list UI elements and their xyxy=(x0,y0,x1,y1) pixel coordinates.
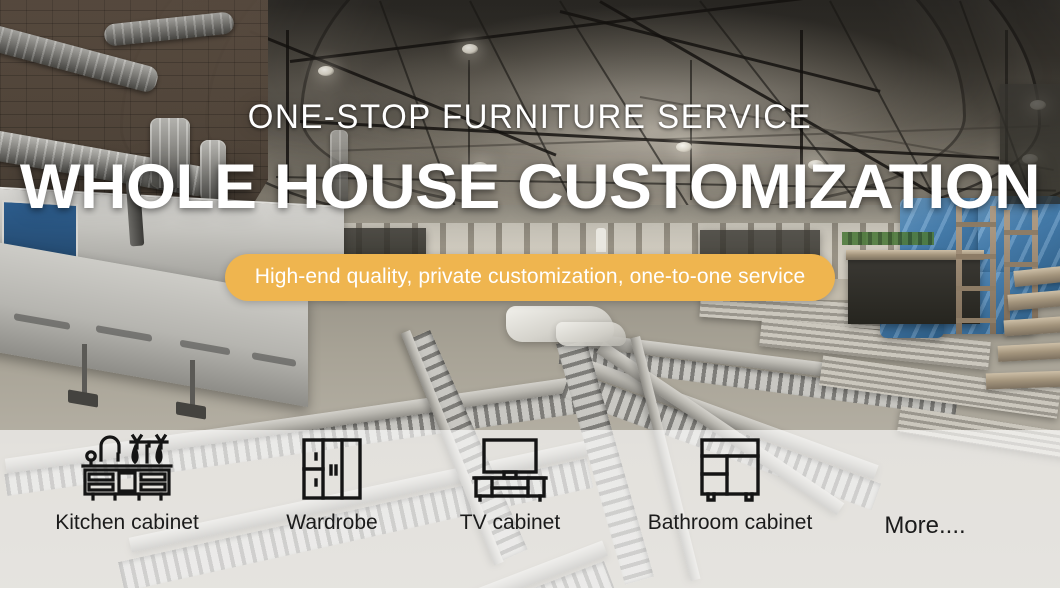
kitchen-cabinet-icon xyxy=(22,430,232,502)
more-link[interactable]: More.... xyxy=(835,512,1015,540)
timber-stack xyxy=(998,342,1060,362)
sub-headline: ONE-STOP FURNITURE SERVICE xyxy=(16,100,1044,134)
tagline-container: High-end quality, private customization,… xyxy=(0,254,1060,301)
tagline-pill: High-end quality, private customization,… xyxy=(225,254,836,301)
ceiling-lamp xyxy=(676,142,692,152)
machine-leg xyxy=(82,344,87,394)
wrapped-bundle xyxy=(556,322,626,346)
category-label: TV cabinet xyxy=(405,511,615,535)
ceiling-lamp xyxy=(318,66,334,76)
ladder-rung xyxy=(956,318,996,323)
promo-banner: ONE-STOP FURNITURE SERVICE WHOLE HOUSE C… xyxy=(0,0,1060,605)
category-kitchen-cabinet[interactable]: Kitchen cabinet xyxy=(22,430,232,535)
machine-leg xyxy=(190,360,195,406)
category-strip: Kitchen cabinet Wardrobe xyxy=(0,430,1060,588)
timber-stack xyxy=(986,371,1060,390)
plant-row xyxy=(842,232,934,245)
main-headline: WHOLE HOUSE CUSTOMIZATION xyxy=(0,156,1060,219)
ladder-rung xyxy=(1004,230,1038,235)
category-label: Bathroom cabinet xyxy=(625,511,835,535)
category-bathroom-cabinet[interactable]: Bathroom cabinet xyxy=(625,430,835,535)
worker-figure xyxy=(596,228,606,252)
category-tv-cabinet[interactable]: TV cabinet xyxy=(405,430,615,535)
ladder-rung xyxy=(956,222,996,227)
bathroom-cabinet-icon xyxy=(625,430,835,502)
ceiling-lamp xyxy=(462,44,478,54)
category-label: Kitchen cabinet xyxy=(22,511,232,535)
tv-cabinet-icon xyxy=(405,430,615,502)
bottom-white-strip xyxy=(0,588,1060,605)
